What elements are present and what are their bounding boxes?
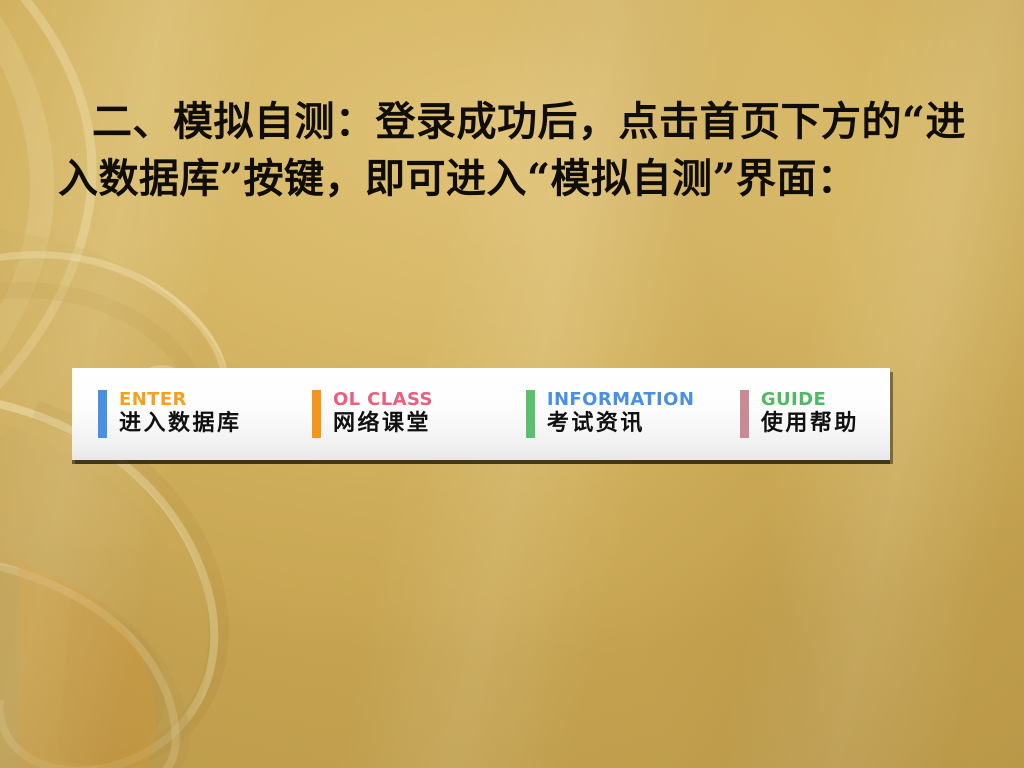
nav-item-guide[interactable]: GUIDE 使用帮助: [740, 390, 890, 438]
slide-canvas: 二、模拟自测：登录成功后，点击首页下方的“进入数据库”按键，即可进入“模拟自测”…: [0, 0, 1024, 768]
accent-bar-icon: [98, 390, 107, 438]
nav-panel: ENTER 进入数据库 OL CLASS 网络课堂 INFORMATION 考试…: [72, 368, 890, 460]
nav-item-text: GUIDE 使用帮助: [761, 390, 859, 438]
nav-item-en-label: INFORMATION: [547, 391, 694, 410]
nav-item-cn-label: 网络课堂: [333, 412, 433, 436]
nav-item-ol-class[interactable]: OL CLASS 网络课堂: [312, 390, 502, 438]
nav-item-text: OL CLASS 网络课堂: [333, 390, 433, 438]
accent-bar-icon: [526, 390, 535, 438]
nav-item-enter[interactable]: ENTER 进入数据库: [98, 390, 288, 438]
nav-item-list: ENTER 进入数据库 OL CLASS 网络课堂 INFORMATION 考试…: [72, 390, 890, 438]
accent-bar-icon: [740, 390, 749, 438]
nav-item-cn-label: 考试资讯: [547, 412, 694, 436]
accent-bar-icon: [312, 390, 321, 438]
nav-item-cn-label: 进入数据库: [119, 412, 242, 436]
nav-item-en-label: ENTER: [119, 391, 242, 410]
nav-item-text: INFORMATION 考试资讯: [547, 390, 694, 438]
nav-item-information[interactable]: INFORMATION 考试资讯: [526, 390, 716, 438]
slide-heading: 二、模拟自测：登录成功后，点击首页下方的“进入数据库”按键，即可进入“模拟自测”…: [58, 94, 968, 208]
nav-item-en-label: GUIDE: [761, 391, 859, 410]
nav-item-cn-label: 使用帮助: [761, 412, 859, 436]
nav-item-en-label: OL CLASS: [333, 391, 433, 410]
nav-item-text: ENTER 进入数据库: [119, 390, 242, 438]
